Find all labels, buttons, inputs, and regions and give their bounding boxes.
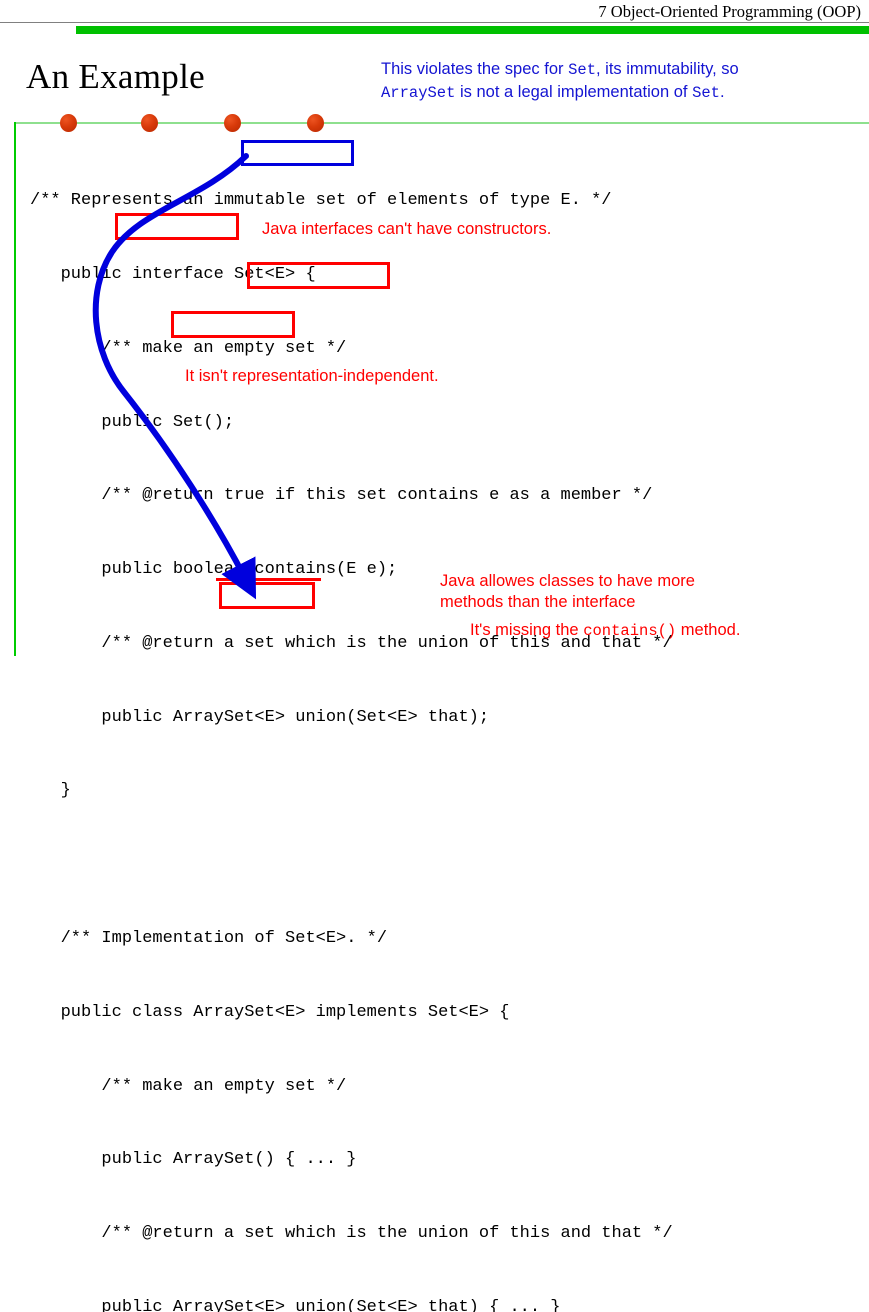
code-line: } xyxy=(30,779,673,804)
page-title: An Example xyxy=(26,57,205,97)
blue-annotation-line-1: This violates the spec for Set, its immu… xyxy=(381,58,861,81)
blue-text-2: , its immutability, so xyxy=(596,60,739,78)
code-line: public ArraySet() { ... } xyxy=(30,1148,673,1173)
decoration-vertical-line xyxy=(14,122,16,656)
bullet-dot-2 xyxy=(141,114,158,132)
blue-code-set-1: Set xyxy=(568,61,596,79)
blue-code-set-2: Set xyxy=(692,84,720,102)
slide: 7 Object-Oriented Programming (OOP) An E… xyxy=(0,0,869,656)
blue-code-arrayset: ArraySet xyxy=(381,84,455,102)
code-line: public class ArraySet<E> implements Set<… xyxy=(30,1001,673,1026)
blue-text-4: . xyxy=(720,83,725,101)
bullet-dot-3 xyxy=(224,114,241,132)
code-line: /** @return true if this set contains e … xyxy=(30,484,673,509)
red-annotation-more-methods: Java allowes classes to have more method… xyxy=(440,571,695,613)
blue-text-1: This violates the spec for xyxy=(381,60,568,78)
code-line: public ArraySet<E> union(Set<E> that); xyxy=(30,706,673,731)
blue-annotation-spec-violation: This violates the spec for Set, its immu… xyxy=(381,58,861,104)
code-line: /** Implementation of Set<E>. */ xyxy=(30,927,673,952)
code-line: /** make an empty set */ xyxy=(30,337,673,362)
red-annotation-more-methods-line2: methods than the interface xyxy=(440,592,695,613)
underline-this-set xyxy=(216,578,321,581)
red-annotation-more-methods-line1: Java allowes classes to have more xyxy=(440,571,695,592)
red-missing-code: contains() xyxy=(583,622,676,640)
code-line: /** Represents an immutable set of eleme… xyxy=(30,189,673,214)
red-missing-suffix: method. xyxy=(676,621,740,639)
code-block: /** Represents an immutable set of eleme… xyxy=(30,140,673,1312)
code-line: public interface Set<E> { xyxy=(30,263,673,288)
bullet-dot-1 xyxy=(60,114,77,132)
bullet-dot-4 xyxy=(307,114,324,132)
red-annotation-constructors: Java interfaces can't have constructors. xyxy=(262,219,551,240)
red-annotation-missing-contains: It's missing the contains() method. xyxy=(470,620,740,642)
code-line: /** @return a set which is the union of … xyxy=(30,1222,673,1247)
header-green-bar xyxy=(76,26,869,34)
blue-text-3: is not a legal implementation of xyxy=(455,83,692,101)
blue-annotation-line-2: ArraySet is not a legal implementation o… xyxy=(381,81,861,104)
code-line: public Set(); xyxy=(30,411,673,436)
header-divider-rule xyxy=(0,22,869,23)
red-annotation-representation: It isn't representation-independent. xyxy=(185,366,439,387)
code-line xyxy=(30,853,673,878)
code-line: /** make an empty set */ xyxy=(30,1075,673,1100)
code-line: public ArraySet<E> union(Set<E> that) { … xyxy=(30,1296,673,1312)
red-missing-prefix: It's missing the xyxy=(470,621,583,639)
slide-header-title: 7 Object-Oriented Programming (OOP) xyxy=(598,2,861,22)
